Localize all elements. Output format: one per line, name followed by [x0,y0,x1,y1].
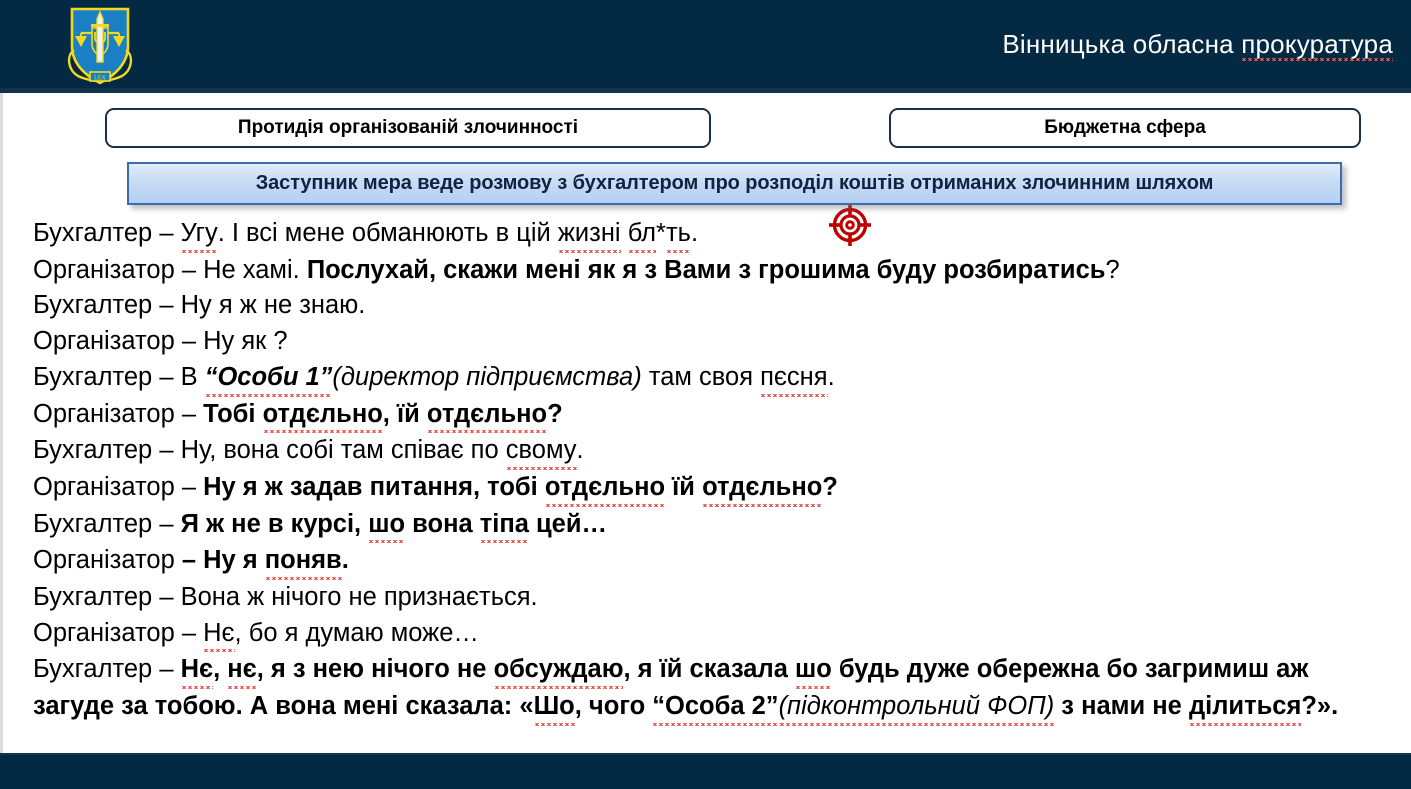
dialogue-flagged-word: бл [628,216,656,253]
dialogue-line: Бухгалтер – Вона ж нічого не признається… [33,580,1378,616]
dialogue-flagged-word: шо [795,652,832,689]
tab-budget-sphere[interactable]: Бюджетна сфера [889,108,1361,148]
tab-row: Протидія організованій злочинності Бюдже… [3,108,1411,150]
dialogue-text: . І всі мене обманюють в цій [218,219,558,247]
dialogue-transcript: Бухгалтер – Угу. І всі мене обманюють в … [33,216,1378,726]
dialogue-line: Організатор – Ну я ж задав питання, тобі… [33,470,1378,507]
dialogue-text: , їй [383,400,427,428]
dialogue-flagged-word: отдєльно [702,470,822,507]
dialogue-flagged-word: обсуждаю [494,652,624,689]
dialogue-text: ? [1105,256,1119,284]
dialogue-text: Бухгалтер – [33,655,181,683]
dialogue-text: Послухай, скажи мені як я з Вами з гроши… [307,256,1106,284]
banner-text: Заступник мера веде розмову з бухгалтеро… [256,172,1214,195]
dialogue-flagged-word: “Особи 1” [205,360,333,397]
dialogue-line: Бухгалтер – В “Особи 1”(директор підприє… [33,360,1378,397]
dialogue-text: Бухгалтер – В [33,363,205,391]
dialogue-text: . [828,363,835,391]
dialogue-text: Ну я ж задав питання, тобі [203,473,545,501]
dialogue-flagged-word: Угу [181,216,218,253]
dialogue-text: Організатор – [33,619,203,647]
dialogue-line: Організатор – Ну я поняв. [33,543,1378,580]
dialogue-text: Організатор [33,546,182,574]
page-title-plain: Вінницька обласна [1002,29,1241,59]
dialogue-text: ? [822,473,838,501]
page-title-flagged-word: прокуратура [1241,29,1393,61]
dialogue-flagged-word: (підконтрольний ФОП) [779,689,1055,726]
page-title: Вінницька обласна прокуратура [1002,29,1393,61]
dialogue-text: Бухгалтер – Вона ж нічого не признається… [33,583,538,611]
dialogue-flagged-word: шо [368,507,405,544]
dialogue-flagged-word: пєсня [760,360,827,397]
dialogue-text: ? [547,400,563,428]
dialogue-text: , бо я думаю може… [235,619,479,647]
dialogue-text [621,219,628,247]
svg-text:LEX: LEX [94,75,106,81]
dialogue-text: , [213,655,227,683]
dialogue-text: . [577,436,584,464]
dialogue-flagged-word: отдєльно [545,470,665,507]
dialogue-line: Бухгалтер – Угу. І всі мене обманюють в … [33,216,1378,253]
dialogue-text: з нами не [1054,692,1189,720]
dialogue-flagged-word: Нє [181,652,214,689]
dialogue-line: Організатор – Нє, бо я думаю може… [33,616,1378,653]
dialogue-text: , чого [575,692,653,720]
dialogue-text: Бухгалтер – [33,510,181,538]
dialogue-flagged-word: жизні [558,216,621,253]
dialogue-text: – Ну я [182,546,265,574]
dialogue-flagged-word: нє [227,652,256,689]
dialogue-text: Бухгалтер – Ну, вона собі там співає по [33,436,506,464]
dialogue-text: Організатор – [33,400,203,428]
prosecutors-office-emblem-icon: LEX [64,6,136,86]
dialogue-flagged-word: поняв [265,543,342,580]
dialogue-flagged-word: ділиться [1189,689,1301,726]
dialogue-line: Бухгалтер – Ну, вона собі там співає по … [33,433,1378,470]
banner: Заступник мера веде розмову з бухгалтеро… [127,162,1342,205]
dialogue-line: Організатор – Не хамі. Послухай, скажи м… [33,253,1378,289]
slide-canvas: LEX Вінницька обласна прокуратура Протид… [0,0,1411,789]
dialogue-line: Бухгалтер – Нє, нє, я з нею нічого не об… [33,652,1378,725]
dialogue-text: . [342,546,349,574]
dialogue-flagged-word: отдєльно [263,397,383,434]
dialogue-text: Тобі [203,400,262,428]
dialogue-text: їй [665,473,702,501]
dialogue-flagged-word: отдєльно [427,397,547,434]
dialogue-text: цей… [529,510,607,538]
footer-bar [0,755,1411,789]
dialogue-line: Бухгалтер – Ну я ж не знаю. [33,288,1378,324]
content-panel: Протидія організованій злочинності Бюдже… [0,93,1411,755]
dialogue-flagged-word: “Особа 2” [652,689,778,726]
dialogue-text: Бухгалтер – Ну я ж не знаю. [33,291,365,319]
dialogue-flagged-word: ть [666,216,691,253]
dialogue-text: , я з нею нічого не [257,655,494,683]
dialogue-flagged-word: тіпа [480,507,529,544]
dialogue-line: Бухгалтер – Я ж не в курсі, шо вона тіпа… [33,507,1378,544]
dialogue-flagged-word: Шо [534,689,575,726]
tab-budget-sphere-label: Бюджетна сфера [1044,117,1206,139]
tab-organized-crime-label: Протидія організованій злочинності [238,117,578,139]
dialogue-text: там своя [642,363,760,391]
dialogue-text: Бухгалтер – [33,219,181,247]
dialogue-text: (директор підприємства) [332,363,641,391]
dialogue-text: Організатор – Не хамі. [33,256,307,284]
dialogue-flagged-word: Нє [203,616,234,653]
dialogue-line: Організатор – Тобі отдєльно, їй отдєльно… [33,397,1378,434]
dialogue-flagged-word: свому [506,433,577,470]
dialogue-text: ?». [1301,692,1338,720]
dialogue-text: * [656,219,666,247]
dialogue-text: вона [405,510,480,538]
dialogue-line: Організатор – Ну як ? [33,324,1378,360]
tab-organized-crime[interactable]: Протидія організованій злочинності [105,108,711,148]
dialogue-text: . [691,219,698,247]
dialogue-text: Я ж не в курсі, [181,510,369,538]
dialogue-text: Організатор – [33,473,203,501]
dialogue-text: Організатор – Ну як ? [33,327,288,355]
dialogue-text: , я їй сказала [623,655,795,683]
